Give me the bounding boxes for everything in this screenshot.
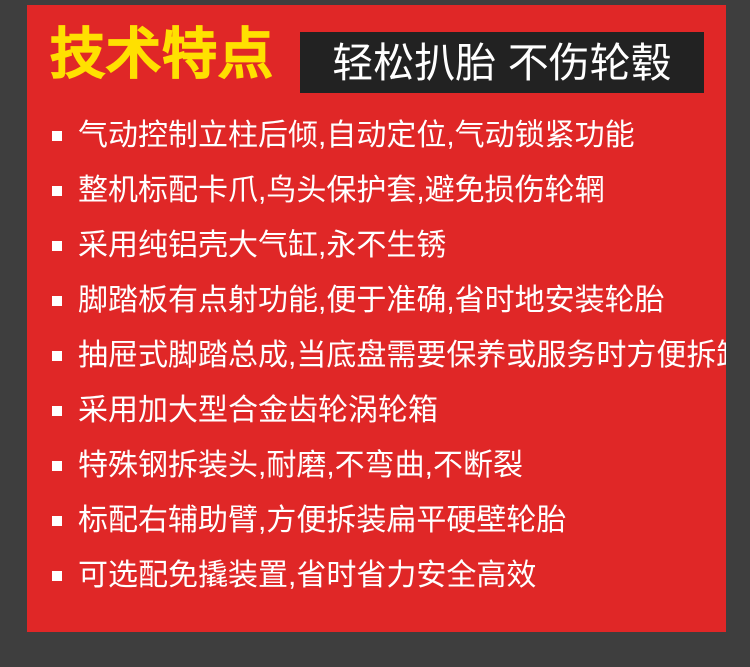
list-item: 标配右辅助臂,方便拆装扁平硬壁轮胎	[27, 493, 726, 548]
bullet-square-icon	[52, 186, 62, 196]
feature-text: 气动控制立柱后倾,自动定位,气动锁紧功能	[78, 117, 635, 155]
bullet-square-icon	[52, 516, 62, 526]
feature-text: 标配右辅助臂,方便拆装扁平硬壁轮胎	[78, 502, 566, 540]
bullet-square-icon	[52, 351, 62, 361]
page-title: 技术特点	[50, 23, 274, 85]
red-content-panel: 技术特点 轻松扒胎 不伤轮毂 气动控制立柱后倾,自动定位,气动锁紧功能 整机标配…	[27, 5, 726, 632]
poster-root: 技术特点 轻松扒胎 不伤轮毂 气动控制立柱后倾,自动定位,气动锁紧功能 整机标配…	[0, 0, 750, 667]
feature-text: 特殊钢拆装头,耐磨,不弯曲,不断裂	[78, 447, 523, 485]
feature-text: 整机标配卡爪,鸟头保护套,避免损伤轮辋	[78, 172, 605, 210]
feature-list: 气动控制立柱后倾,自动定位,气动锁紧功能 整机标配卡爪,鸟头保护套,避免损伤轮辋…	[27, 108, 726, 603]
list-item: 特殊钢拆装头,耐磨,不弯曲,不断裂	[27, 438, 726, 493]
bullet-square-icon	[52, 241, 62, 251]
feature-text: 采用纯铝壳大气缸,永不生锈	[78, 227, 446, 265]
feature-text: 采用加大型合金齿轮涡轮箱	[78, 392, 438, 430]
list-item: 采用加大型合金齿轮涡轮箱	[27, 383, 726, 438]
bullet-square-icon	[52, 296, 62, 306]
list-item: 采用纯铝壳大气缸,永不生锈	[27, 218, 726, 273]
bullet-square-icon	[52, 131, 62, 141]
list-item: 气动控制立柱后倾,自动定位,气动锁紧功能	[27, 108, 726, 163]
bullet-square-icon	[52, 406, 62, 416]
feature-text: 抽屉式脚踏总成,当底盘需要保养或服务时方便拆卸	[78, 337, 726, 375]
list-item: 可选配免撬装置,省时省力安全高效	[27, 548, 726, 603]
bullet-square-icon	[52, 461, 62, 471]
feature-text: 脚踏板有点射功能,便于准确,省时地安装轮胎	[78, 282, 665, 320]
list-item: 整机标配卡爪,鸟头保护套,避免损伤轮辋	[27, 163, 726, 218]
list-item: 脚踏板有点射功能,便于准确,省时地安装轮胎	[27, 273, 726, 328]
feature-text: 可选配免撬装置,省时省力安全高效	[78, 557, 536, 595]
tagline-text: 轻松扒胎 不伤轮毂	[332, 40, 671, 86]
bullet-square-icon	[52, 571, 62, 581]
tagline-banner: 轻松扒胎 不伤轮毂	[300, 32, 704, 93]
list-item: 抽屉式脚踏总成,当底盘需要保养或服务时方便拆卸	[27, 328, 726, 383]
header-row: 技术特点 轻松扒胎 不伤轮毂	[27, 5, 726, 105]
